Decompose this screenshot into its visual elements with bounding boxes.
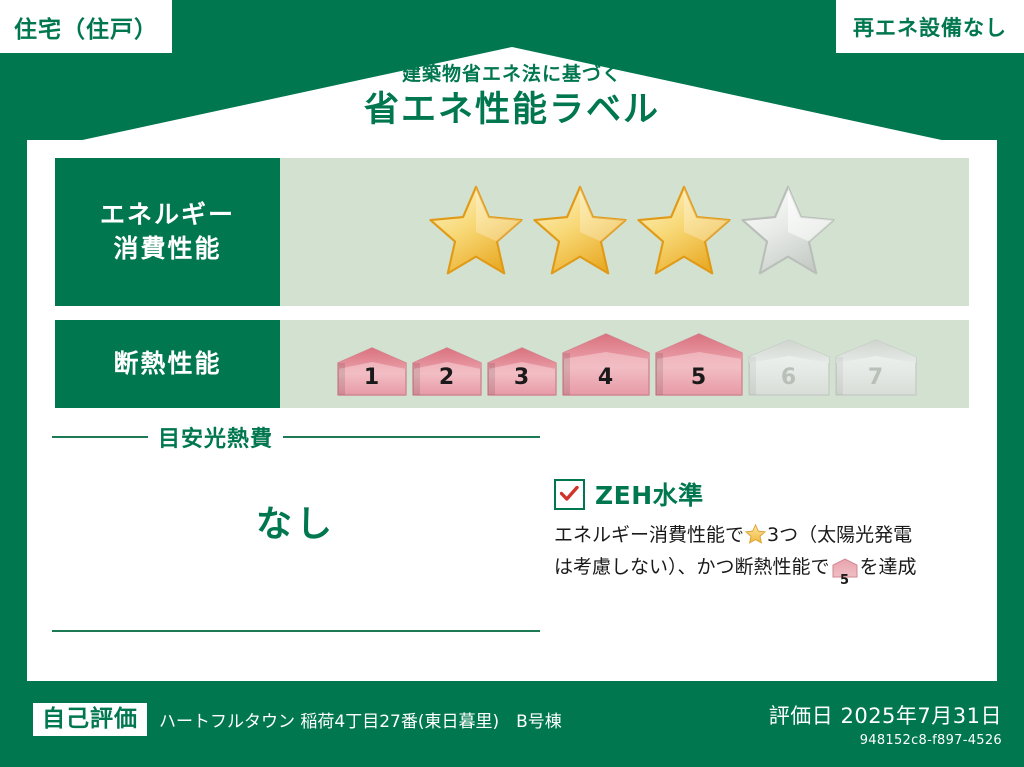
energy-label-root: 住宅（住戸） 再エネ設備なし 建築物省エネ法に基づく 省エネ性能ラベル エネルギ… <box>0 0 1024 767</box>
star-icon-filled <box>427 183 525 281</box>
zeh-desc-part4: を達成 <box>860 556 917 578</box>
zeh-desc-part2: 3つ（太陽光発電 <box>767 524 912 546</box>
star-icon <box>745 527 766 549</box>
footer-left: 自己評価 ハートフルタウン 稲荷4丁目27番(東日暮里) B号棟 <box>33 703 562 736</box>
renewable-energy-tag: 再エネ設備なし <box>836 0 1024 53</box>
star-icon-filled <box>531 183 629 281</box>
zeh-title: ZEH水準 <box>595 476 704 512</box>
zeh-description: エネルギー消費性能で3つ（太陽光発電 は考慮しない）、かつ断熱性能で5を達成 <box>554 521 974 588</box>
utility-cost-value: なし <box>52 495 540 547</box>
insulation-level-number: 7 <box>834 365 918 390</box>
star-icon-empty <box>739 183 837 281</box>
insulation-level-filled: 4 <box>561 331 651 397</box>
property-address: ハートフルタウン 稲荷4丁目27番(東日暮里) B号棟 <box>159 707 562 732</box>
insulation-level-filled: 1 <box>336 345 408 397</box>
utility-cost-header: 目安光熱費 <box>52 424 540 450</box>
building-type-tag: 住宅（住戸） <box>0 0 172 53</box>
insulation-level-filled: 5 <box>654 331 744 397</box>
insulation-level-badge-number: 5 <box>832 574 858 587</box>
energy-performance-value <box>280 158 969 306</box>
insulation-performance-label-line1: 断熱性能 <box>113 347 221 381</box>
insulation-level-number: 1 <box>336 365 408 390</box>
insulation-level-badge-icon: 5 <box>832 558 858 587</box>
zeh-desc-part1: エネルギー消費性能で <box>554 524 744 546</box>
utility-cost-title: 目安光熱費 <box>158 421 273 453</box>
house-roof-shape <box>27 47 997 152</box>
energy-performance-row: エネルギー 消費性能 <box>55 158 969 306</box>
zeh-header: ZEH水準 <box>554 476 974 512</box>
insulation-level-filled: 3 <box>486 345 558 397</box>
star-rating <box>427 183 837 281</box>
zeh-standard-block: ZEH水準 エネルギー消費性能で3つ（太陽光発電 は考慮しない）、かつ断熱性能で… <box>554 476 974 588</box>
insulation-level-scale: 1234567 <box>336 331 918 397</box>
energy-performance-label-line1: エネルギー <box>100 198 235 232</box>
energy-performance-label-line2: 消費性能 <box>113 232 221 266</box>
insulation-level-number: 5 <box>654 365 744 390</box>
evaluation-date: 評価日 2025年7月31日 <box>769 700 1002 730</box>
insulation-level-number: 4 <box>561 365 651 390</box>
insulation-level-number: 2 <box>411 365 483 390</box>
insulation-level-filled: 2 <box>411 345 483 397</box>
divider-left <box>52 436 148 438</box>
energy-performance-label: エネルギー 消費性能 <box>55 158 280 306</box>
footer-right: 評価日 2025年7月31日 948152c8-f897-4526 <box>769 700 1002 748</box>
insulation-level-number: 3 <box>486 365 558 390</box>
divider-right <box>283 436 540 438</box>
self-evaluation-badge: 自己評価 <box>33 703 147 736</box>
building-type-tag-label: 住宅（住戸） <box>14 10 158 44</box>
check-icon <box>554 479 585 510</box>
insulation-performance-value: 1234567 <box>280 320 969 408</box>
insulation-level-empty: 6 <box>747 337 831 397</box>
insulation-level-empty: 7 <box>834 337 918 397</box>
insulation-level-number: 6 <box>747 365 831 390</box>
utility-cost-bottom-divider <box>52 630 540 632</box>
renewable-energy-tag-label: 再エネ設備なし <box>853 12 1007 42</box>
insulation-performance-label: 断熱性能 <box>55 320 280 408</box>
zeh-desc-part3: は考慮しない）、かつ断熱性能で <box>554 556 830 578</box>
evaluation-id: 948152c8-f897-4526 <box>769 733 1002 748</box>
star-icon-filled <box>635 183 733 281</box>
insulation-performance-row: 断熱性能 1234567 <box>55 320 969 408</box>
